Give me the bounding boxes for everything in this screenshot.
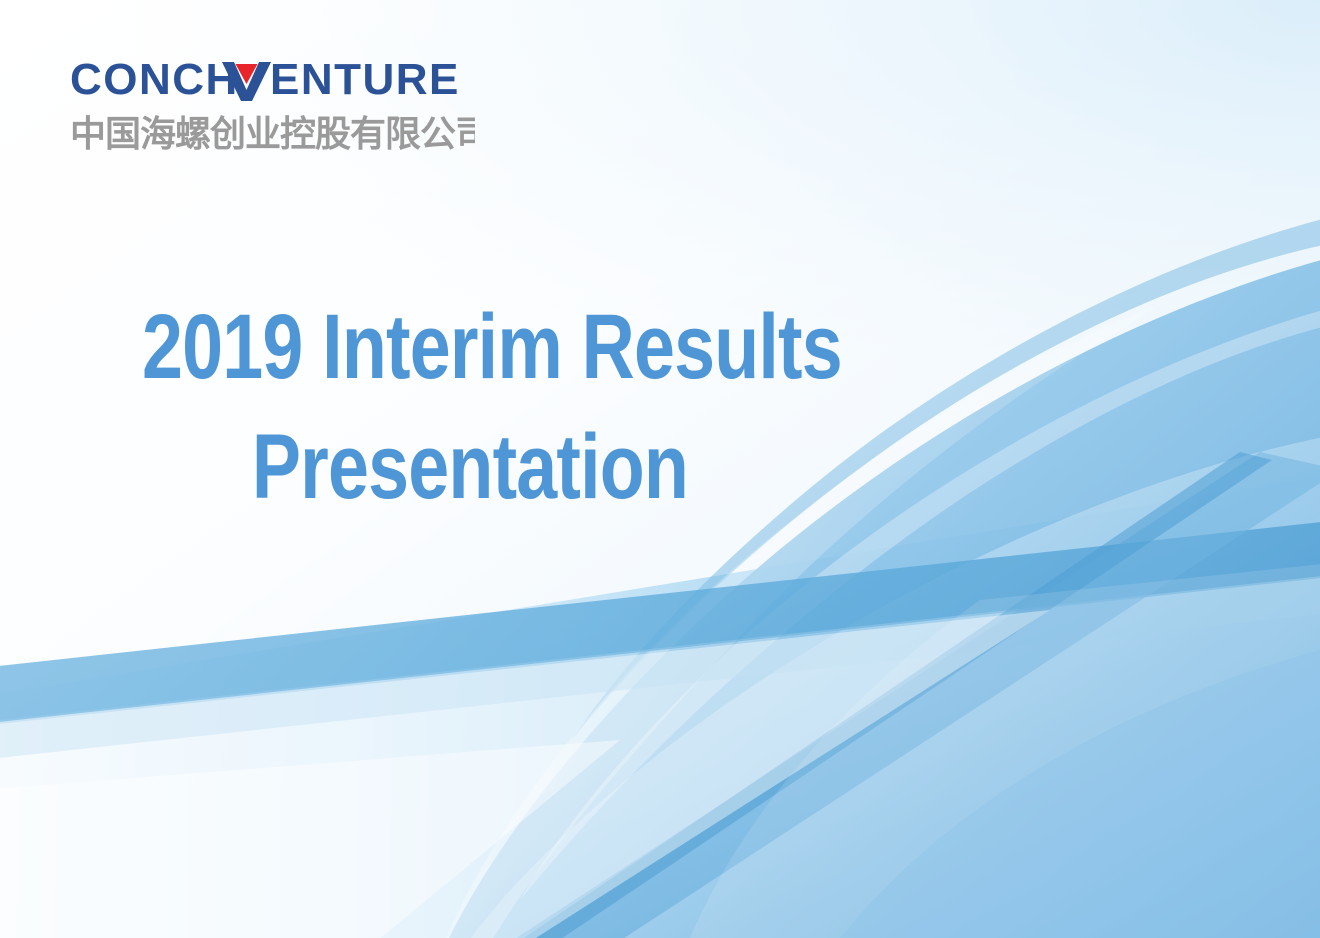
logo-wordmark-enture: ENTURE	[270, 56, 460, 104]
logo-chinese-name-text: 中国海螺创业控股有限公司	[70, 114, 475, 155]
title-line-1: 2019 Interim Results	[142, 288, 798, 408]
logo-wordmark: CONCH ENTURE	[70, 56, 470, 104]
logo-wordmark-conch: CONCH	[70, 56, 239, 104]
title-slide: CONCH ENTURE 中国海螺创业控股有限公司 2019 Interim R…	[0, 0, 1320, 938]
slide-title: 2019 Interim Results Presentation	[60, 288, 880, 527]
company-logo: CONCH ENTURE 中国海螺创业控股有限公司	[70, 56, 490, 168]
logo-chinese-name: 中国海螺创业控股有限公司	[70, 110, 475, 156]
title-line-2: Presentation	[142, 408, 798, 528]
